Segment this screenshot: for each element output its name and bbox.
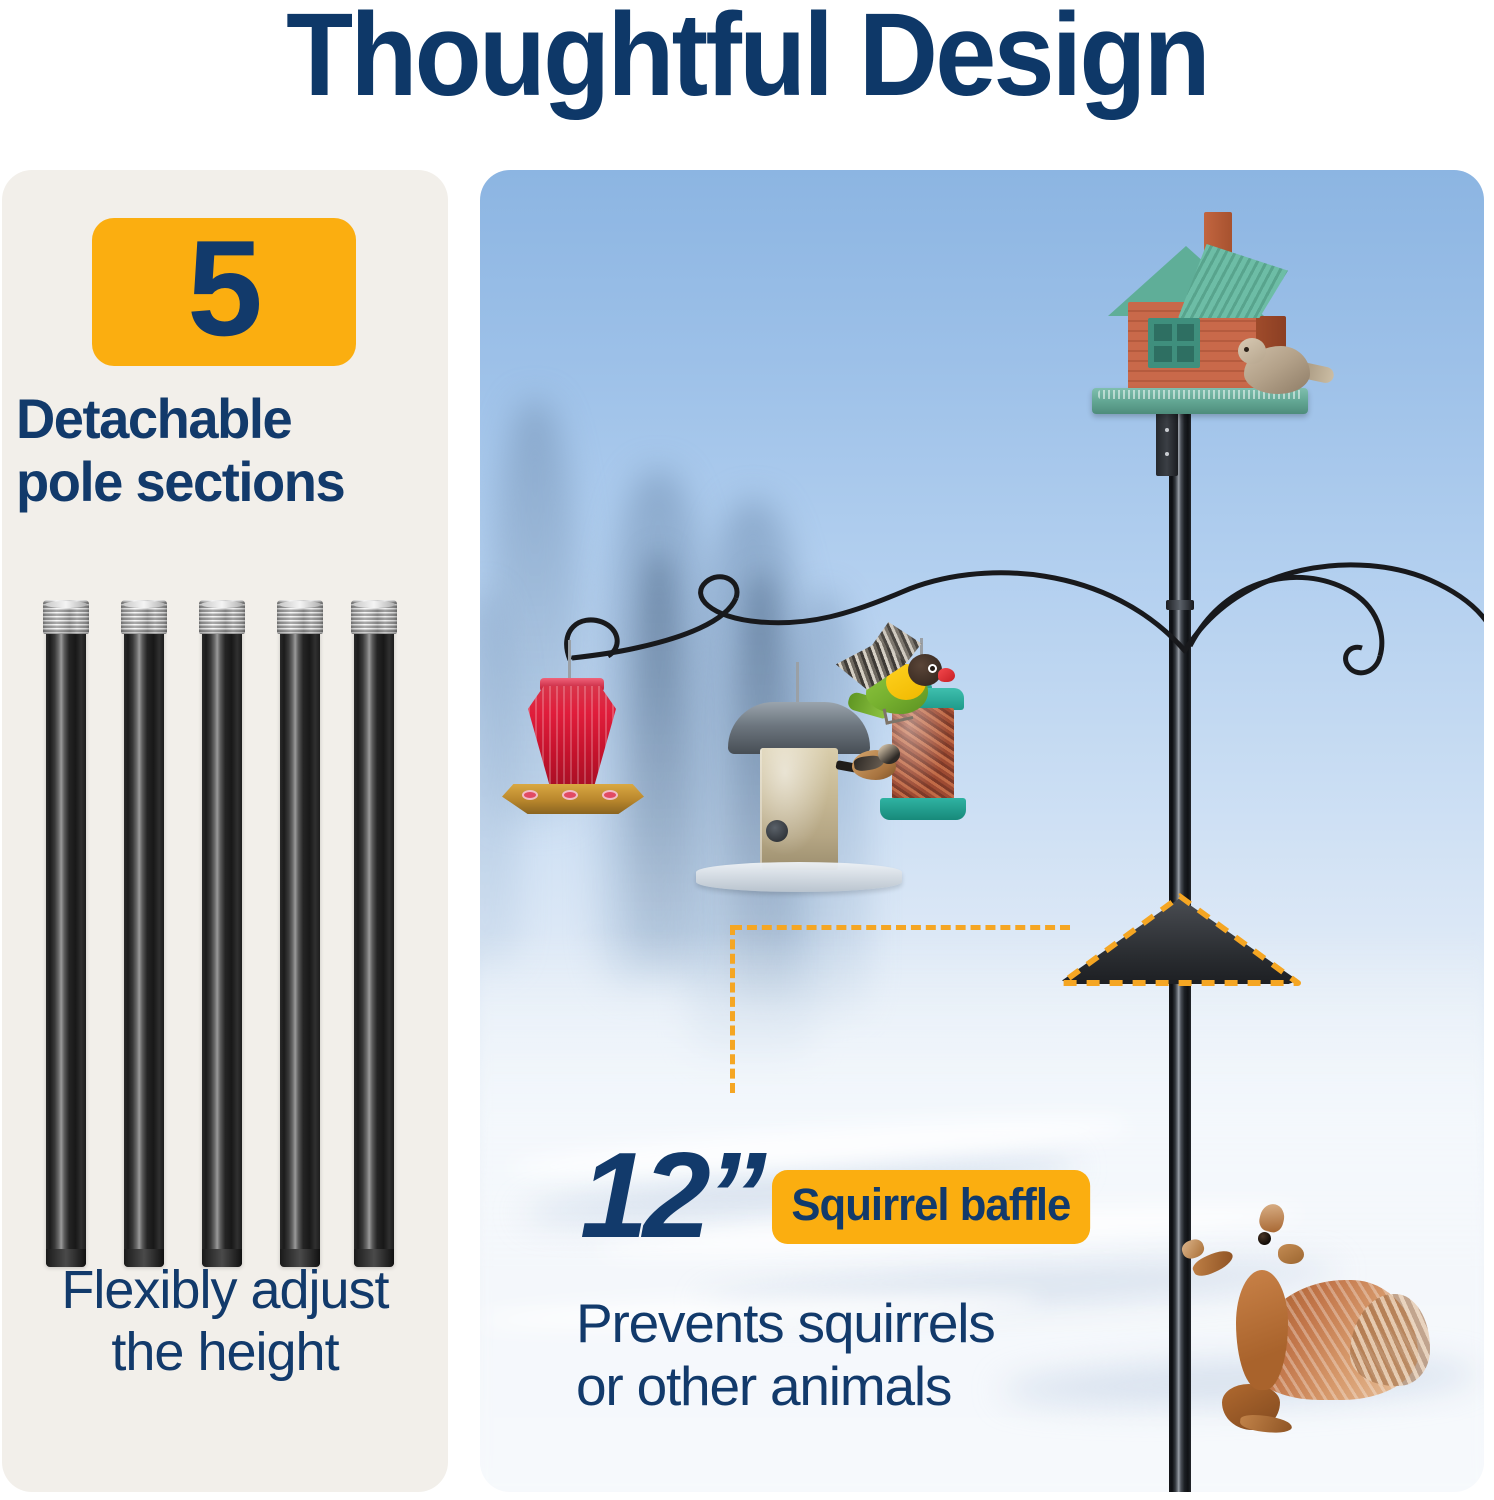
squirrel-eye bbox=[1258, 1232, 1271, 1245]
feeder-base bbox=[880, 798, 966, 820]
pole-thread-cap-icon bbox=[199, 600, 245, 634]
lovebird-head bbox=[908, 654, 942, 686]
pole-thread-cap-icon bbox=[121, 600, 167, 634]
dove-head bbox=[1238, 338, 1266, 364]
right-panel-footer: Prevents squirrels or other animals bbox=[576, 1292, 1176, 1417]
birdhouse-mounting-bracket bbox=[1156, 408, 1178, 476]
lovebird-eye bbox=[928, 664, 937, 673]
nectar-reservoir bbox=[528, 686, 616, 790]
baffle-leader-line-horizontal bbox=[732, 925, 1070, 930]
finch-head bbox=[878, 744, 900, 764]
feeding-port-icon bbox=[562, 790, 578, 800]
squirrel-baffle bbox=[1062, 898, 1298, 984]
left-panel-footer: Flexibly adjust the height bbox=[12, 1260, 438, 1383]
right-scene-panel: 12” Squirrel baffle Prevents squirrels o… bbox=[480, 170, 1484, 1492]
pole-count-number: 5 bbox=[187, 220, 261, 356]
left-footer-line-2: the height bbox=[12, 1322, 438, 1384]
left-headline-line-2: pole sections bbox=[16, 451, 423, 514]
left-panel-headline: Detachable pole sections bbox=[16, 388, 423, 513]
right-footer-line-1: Prevents squirrels bbox=[576, 1292, 1176, 1355]
goldfinch bbox=[852, 744, 910, 788]
squirrel-snout bbox=[1278, 1244, 1304, 1264]
log-cabin-birdhouse bbox=[1092, 192, 1308, 414]
hanger-arm-right bbox=[1180, 550, 1484, 680]
pole-section-4 bbox=[280, 630, 320, 1266]
left-footer-line-1: Flexibly adjust bbox=[12, 1260, 438, 1322]
pole-section-3 bbox=[202, 630, 242, 1266]
red-squirrel bbox=[1184, 1210, 1414, 1460]
squirrel-chest bbox=[1236, 1270, 1288, 1390]
pole-count-badge: 5 bbox=[92, 218, 356, 366]
left-headline-line-1: Detachable bbox=[16, 388, 423, 451]
baffle-size-callout: 12” Squirrel baffle bbox=[580, 1140, 1140, 1262]
seed-catch-tray bbox=[696, 862, 902, 892]
pole-thread-cap-icon bbox=[277, 600, 323, 634]
seed-chamber bbox=[760, 748, 838, 870]
lovebird-beak bbox=[938, 668, 955, 682]
dove-eye bbox=[1244, 347, 1249, 352]
mourning-dove bbox=[1240, 332, 1326, 394]
pole-section-5 bbox=[354, 630, 394, 1266]
baffle-highlight-outline bbox=[1058, 893, 1302, 988]
pole-section-1 bbox=[46, 630, 86, 1266]
pole-thread-cap-icon bbox=[351, 600, 397, 634]
infographic-page: Thoughtful Design 5 Detachable pole sect… bbox=[0, 0, 1494, 1500]
seed-port-icon bbox=[766, 820, 788, 842]
hummingbird-nectar-feeder bbox=[500, 640, 646, 840]
left-feature-panel: 5 Detachable pole sections Flexibly adju… bbox=[2, 170, 448, 1492]
page-title: Thoughtful Design bbox=[52, 0, 1441, 118]
feeding-port-icon bbox=[522, 790, 538, 800]
right-footer-line-2: or other animals bbox=[576, 1355, 1176, 1418]
squirrel-baffle-badge: Squirrel baffle bbox=[772, 1170, 1090, 1244]
baffle-size-value: 12” bbox=[580, 1134, 762, 1256]
pole-section-2 bbox=[124, 630, 164, 1266]
squirrel-foot bbox=[1239, 1413, 1292, 1434]
masked-lovebird bbox=[832, 622, 964, 740]
feeding-port-icon bbox=[602, 790, 618, 800]
cabin-window bbox=[1148, 318, 1200, 368]
pole-thread-cap-icon bbox=[43, 600, 89, 634]
pole-sections-group bbox=[2, 588, 448, 1266]
baffle-leader-line-vertical bbox=[730, 925, 735, 1093]
